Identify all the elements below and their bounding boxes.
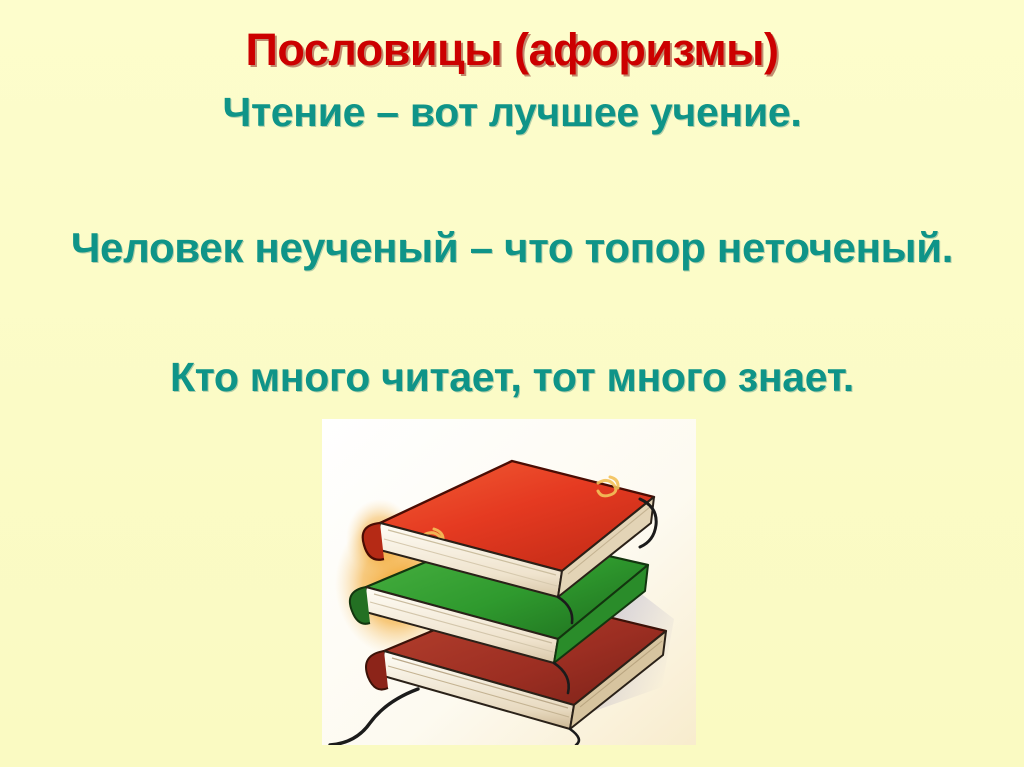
page-title: Пословицы (афоризмы) bbox=[0, 23, 1024, 77]
slide-canvas: Пословицы (афоризмы) Чтение – вот лучшее… bbox=[0, 0, 1024, 767]
proverb-line-3: Кто много читает, тот много знает. bbox=[0, 353, 1024, 401]
stack-of-books-illustration bbox=[322, 419, 696, 745]
books-icon bbox=[322, 419, 696, 745]
proverb-line-2: Человек неученый – что топор неточеный. bbox=[0, 224, 1024, 272]
proverb-line-1: Чтение – вот лучшее учение. bbox=[0, 88, 1024, 136]
